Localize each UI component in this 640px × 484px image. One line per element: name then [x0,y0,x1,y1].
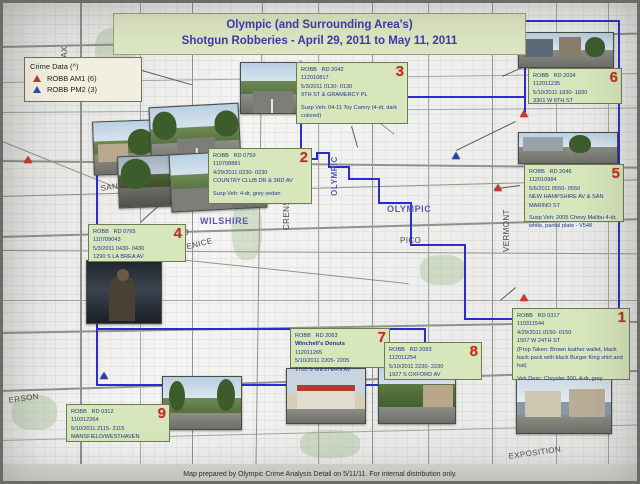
crime-map-page: 3RD FAIRFAX SAN WILSHIRE VENICE PICO CRE… [0,0,640,484]
map-border [0,0,640,484]
